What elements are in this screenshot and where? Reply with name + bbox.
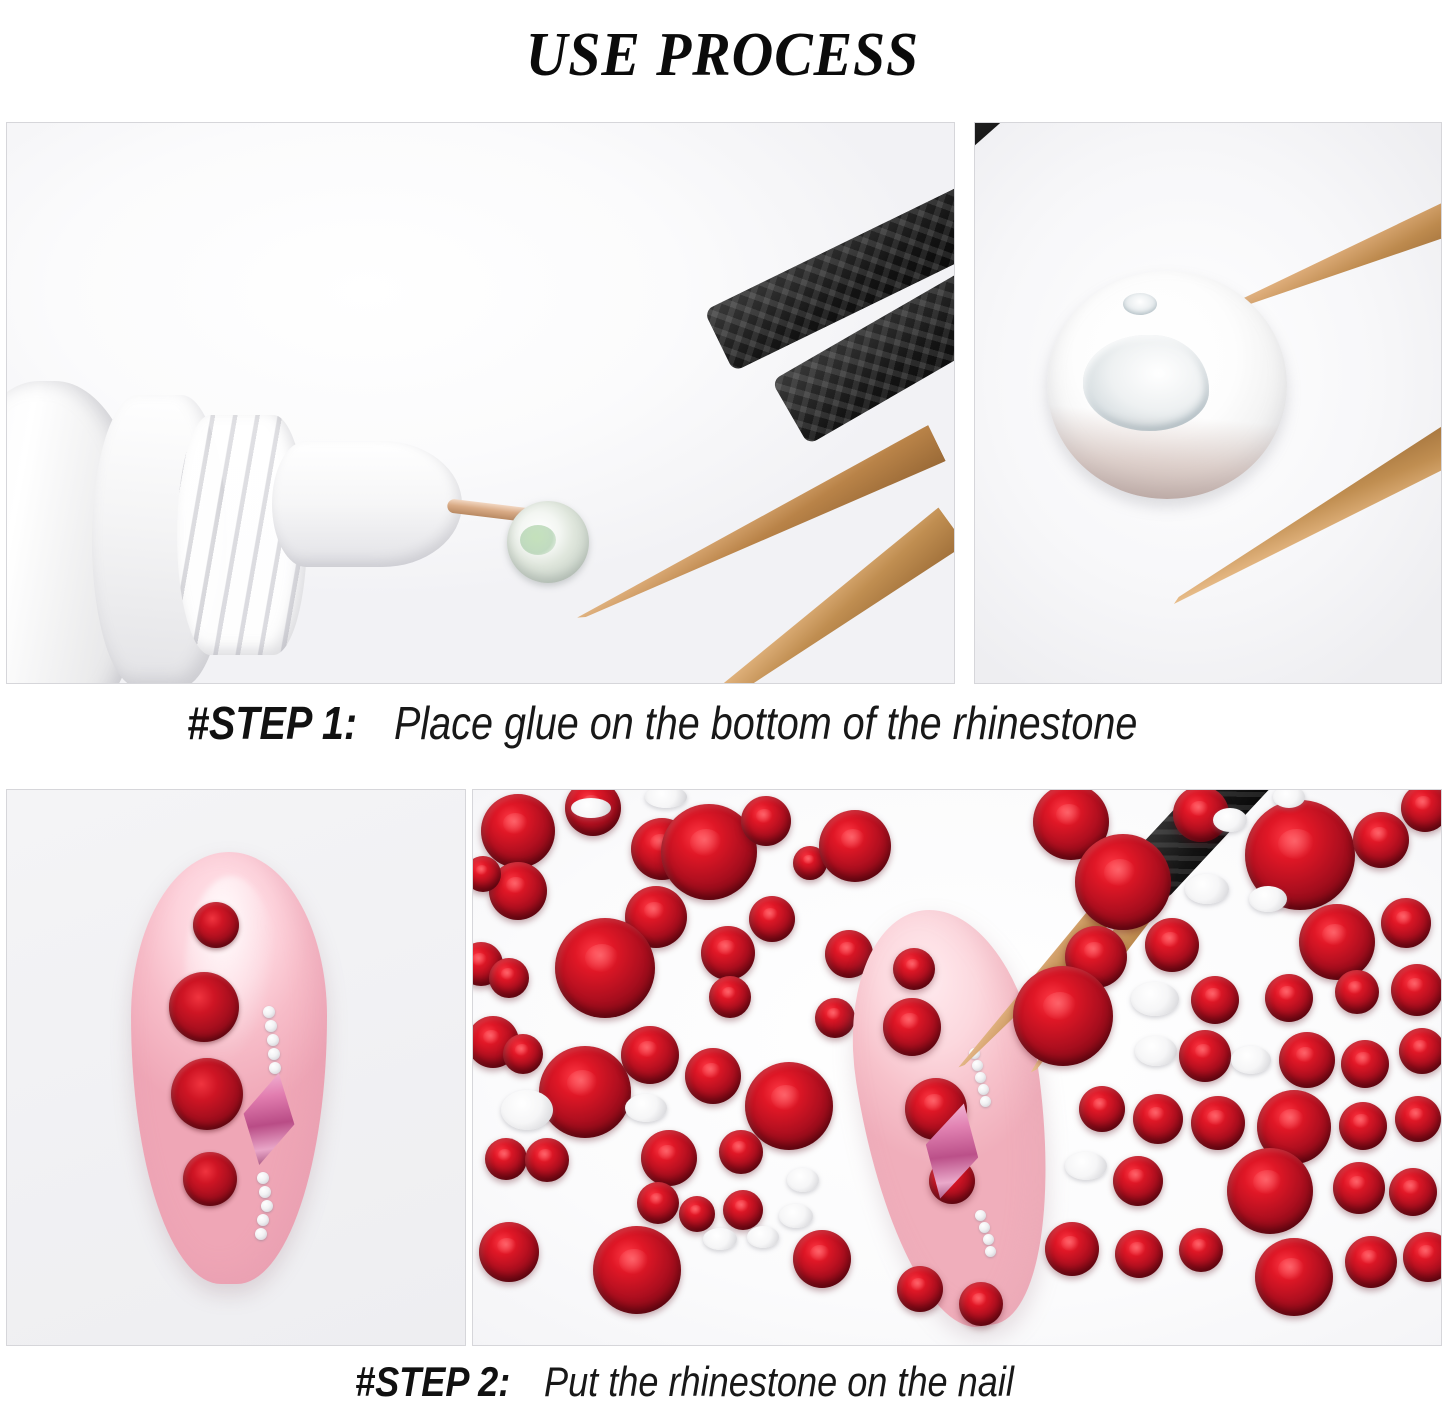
rhinestone-flat-back [1065, 1152, 1107, 1180]
red-rhinestone-on-nail [883, 998, 941, 1056]
red-rhinestone [637, 1182, 679, 1224]
rhinestone-flat-back [703, 1228, 737, 1250]
red-rhinestone [1391, 964, 1442, 1016]
clear-pearl [985, 1246, 996, 1257]
red-rhinestone-large [1013, 966, 1113, 1066]
red-rhinestone [1353, 812, 1409, 868]
step-2-text: Put the rhinestone on the nail [544, 1358, 1014, 1406]
red-rhinestone [489, 958, 529, 998]
rhinestone-flat-back [747, 1226, 779, 1248]
red-rhinestone [709, 976, 751, 1018]
rhinestone-underside-with-glue-photo [974, 122, 1442, 684]
red-rhinestone-large [1075, 834, 1171, 930]
glue-droplet [1123, 293, 1157, 315]
red-rhinestone [1395, 1096, 1441, 1142]
red-rhinestone [1341, 1040, 1389, 1088]
clear-pearl [269, 1062, 281, 1074]
red-rhinestone-medium [183, 1152, 237, 1206]
red-rhinestone [1339, 1102, 1387, 1150]
red-rhinestone [1113, 1156, 1163, 1206]
clear-pearl [267, 1034, 279, 1046]
rhinestone-flat-back [1231, 1046, 1271, 1074]
clear-pearl [255, 1228, 267, 1240]
clear-pearl [268, 1048, 280, 1060]
clear-pearl [263, 1006, 275, 1018]
red-rhinestone [701, 926, 755, 980]
red-rhinestone-large [1255, 1238, 1333, 1316]
red-rhinestone [485, 1138, 527, 1180]
red-rhinestone [959, 1282, 1003, 1326]
red-rhinestone [1079, 1086, 1125, 1132]
red-rhinestone [723, 1190, 763, 1230]
clear-pearl [265, 1020, 277, 1032]
red-rhinestone-on-nail [893, 948, 935, 990]
clear-pearl [261, 1200, 273, 1212]
step-1-photo-row [6, 122, 1442, 684]
red-rhinestone-large [593, 1226, 681, 1314]
red-rhinestone [793, 1230, 851, 1288]
red-rhinestone-large [1227, 1148, 1313, 1234]
red-rhinestone [1133, 1094, 1183, 1144]
red-rhinestone [1179, 1030, 1231, 1082]
clear-pearl [975, 1072, 986, 1083]
red-rhinestone [1389, 1168, 1437, 1216]
rhinestone-flat-back [1185, 874, 1229, 904]
red-rhinestone [1191, 1096, 1245, 1150]
finished-pink-nail-photo [6, 789, 466, 1346]
panel-gap [955, 122, 974, 684]
red-rhinestone [1265, 974, 1313, 1022]
step-1-caption: #STEP 1: Place glue on the bottom of the… [0, 692, 1445, 754]
red-rhinestone-large [169, 972, 239, 1042]
red-rhinestone [479, 1222, 539, 1282]
red-rhinestone [815, 998, 855, 1038]
red-rhinestone [1145, 918, 1199, 972]
red-rhinestone [1045, 1222, 1099, 1276]
rhinestone-flat-back [501, 1090, 553, 1130]
rhinestone-flat-back [779, 1204, 813, 1228]
rhinestone-flat-back [571, 798, 611, 818]
red-rhinestone [1333, 1162, 1385, 1214]
red-rhinestone-large [171, 1058, 243, 1130]
glue-bottle-and-tweezers-photo [6, 122, 955, 684]
step-1-label: #STEP 1: [187, 696, 357, 750]
step-2-photo-row [6, 789, 1442, 1346]
red-rhinestone [1381, 898, 1431, 948]
red-rhinestone [749, 896, 795, 942]
red-rhinestone [1335, 970, 1379, 1014]
clear-pearl [980, 1096, 991, 1107]
red-rhinestone [1115, 1230, 1163, 1278]
rhinestone-being-glued [507, 501, 589, 583]
red-rhinestone [685, 1048, 741, 1104]
red-rhinestone [1399, 1028, 1442, 1074]
red-rhinestone-small [193, 902, 239, 948]
clear-pearl [978, 1084, 989, 1095]
red-rhinestone [741, 796, 791, 846]
step-2-caption: #STEP 2: Put the rhinestone on the nail [0, 1355, 1445, 1409]
red-rhinestone [1345, 1236, 1397, 1288]
clear-pearl [259, 1186, 271, 1198]
rhinestone-flat-back [1131, 982, 1179, 1016]
step-2-label: #STEP 2: [355, 1358, 510, 1406]
red-rhinestone [1179, 1228, 1223, 1272]
clear-pearl [983, 1234, 994, 1245]
step-1-text: Place glue on the bottom of the rhinesto… [394, 696, 1137, 750]
glue-bottle-nozzle-tip [272, 441, 462, 567]
red-rhinestone-large [555, 918, 655, 1018]
red-rhinestone-large [539, 1046, 631, 1138]
clear-pearl [257, 1172, 269, 1184]
red-rhinestone-large [819, 810, 891, 882]
red-rhinestone [897, 1266, 943, 1312]
rhinestone-flat-back [1135, 1036, 1177, 1066]
red-rhinestone [1191, 976, 1239, 1024]
clear-pearl [972, 1060, 983, 1071]
clear-pearl [975, 1210, 986, 1221]
glue-bead [1083, 335, 1209, 431]
red-rhinestone [503, 1034, 543, 1074]
rhinestone-flat-back [787, 1168, 819, 1192]
page-header: USE PROCESS [0, 0, 1445, 110]
red-rhinestone [621, 1026, 679, 1084]
rhinestone-flat-back [1213, 808, 1247, 832]
red-rhinestone-large [745, 1062, 833, 1150]
scattered-rhinestones-and-nail-photo [472, 789, 1442, 1346]
rhinestone-flat-back [625, 1094, 667, 1122]
red-rhinestone [641, 1130, 697, 1186]
page-title: USE PROCESS [526, 24, 919, 86]
red-rhinestone [525, 1138, 569, 1182]
clear-pearl [979, 1222, 990, 1233]
red-rhinestone-large [1299, 904, 1375, 980]
clear-pearl [257, 1214, 269, 1226]
rhinestone-flat-back [1249, 886, 1287, 912]
red-rhinestone [481, 794, 555, 868]
red-rhinestone [719, 1130, 763, 1174]
red-rhinestone [1279, 1032, 1335, 1088]
red-rhinestone [679, 1196, 715, 1232]
